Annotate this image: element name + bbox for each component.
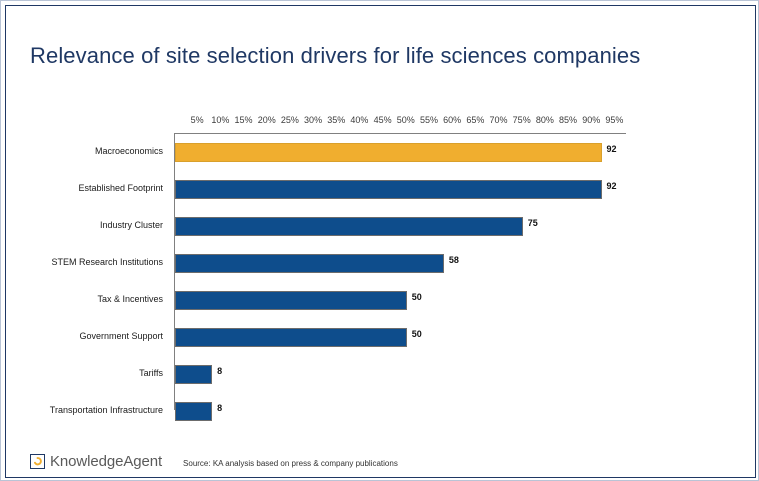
axis-tick-label: 45% [374,115,392,125]
category-label: Industry Cluster [21,207,169,244]
axis-tick-label: 5% [191,115,204,125]
axis-tick-label: 25% [281,115,299,125]
bar-row: 50 [175,319,626,356]
category-label: Established Footprint [21,170,169,207]
bar-value-label: 75 [528,218,538,228]
axis-tick-label: 15% [235,115,253,125]
axis-tick-label: 40% [350,115,368,125]
knowledgeagent-logo-icon [30,454,45,469]
bar[interactable] [175,143,602,162]
bar-chart: MacroeconomicsEstablished FootprintIndus… [1,1,759,481]
slide-canvas: Relevance of site selection drivers for … [0,0,759,481]
category-label: Tax & Incentives [21,281,169,318]
category-label: Tariffs [21,355,169,392]
bar-row: 50 [175,282,626,319]
axis-tick-label: 75% [513,115,531,125]
knowledgeagent-logo: KnowledgeAgent [30,453,162,470]
category-label: Government Support [21,318,169,355]
bar-value-label: 8 [217,366,222,376]
axis-tick-label: 60% [443,115,461,125]
bar-value-label: 50 [412,292,422,302]
bar[interactable] [175,254,444,273]
value-axis-tick-labels: 5%10%15%20%25%30%35%40%45%50%55%60%65%70… [174,115,626,129]
bar-row: 8 [175,356,626,393]
bar-row: 8 [175,393,626,430]
axis-tick-label: 95% [605,115,623,125]
axis-tick-label: 55% [420,115,438,125]
bar-row: 75 [175,208,626,245]
bar[interactable] [175,328,407,347]
plot-area: 92927558505088 [174,133,626,410]
bar-row: 92 [175,134,626,171]
category-label: Macroeconomics [21,133,169,170]
category-label: STEM Research Institutions [21,244,169,281]
axis-tick-label: 10% [211,115,229,125]
bar[interactable] [175,365,212,384]
bar-value-label: 92 [607,144,617,154]
bar-value-label: 92 [607,181,617,191]
axis-tick-label: 70% [489,115,507,125]
axis-tick-label: 90% [582,115,600,125]
logo-text: KnowledgeAgent [50,453,162,470]
axis-tick-label: 35% [327,115,345,125]
axis-tick-label: 30% [304,115,322,125]
bar-row: 92 [175,171,626,208]
category-axis-labels: MacroeconomicsEstablished FootprintIndus… [21,133,169,429]
bar[interactable] [175,402,212,421]
axis-tick-label: 85% [559,115,577,125]
bar-value-label: 50 [412,329,422,339]
axis-tick-label: 65% [466,115,484,125]
source-note: Source: KA analysis based on press & com… [183,456,398,468]
footer: KnowledgeAgent Source: KA analysis based… [30,453,398,470]
axis-tick-label: 80% [536,115,554,125]
bar[interactable] [175,180,602,199]
axis-tick-label: 50% [397,115,415,125]
bar[interactable] [175,291,407,310]
bar-value-label: 58 [449,255,459,265]
bar[interactable] [175,217,523,236]
category-label: Transportation Infrastructure [21,392,169,429]
bar-value-label: 8 [217,403,222,413]
bar-row: 58 [175,245,626,282]
axis-tick-label: 20% [258,115,276,125]
